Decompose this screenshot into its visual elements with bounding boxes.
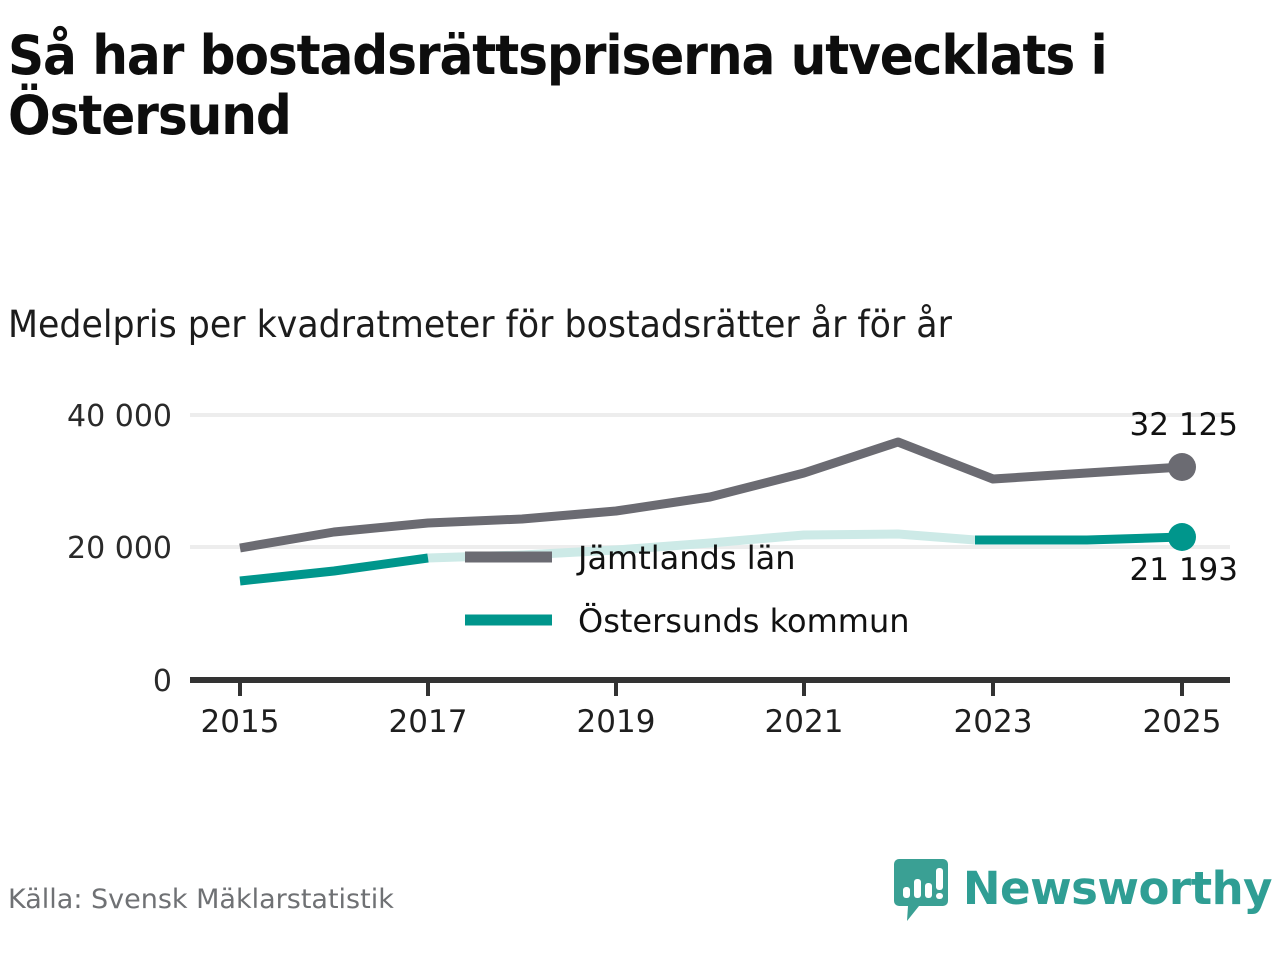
y-tick-label: 20 000 <box>67 531 172 566</box>
series-line-ostersunds-kommun-left <box>240 558 428 581</box>
chart-container: 40 000 20 000 0 32 125 21 193 Jämtlands … <box>0 380 1280 760</box>
x-tick-label: 2015 <box>201 704 280 740</box>
end-value-ostersunds-kommun: 21 193 <box>1130 552 1238 588</box>
chart-legend: Jämtlands län Östersunds kommun <box>465 539 910 640</box>
source-note: Källa: Svensk Mäklarstatistik <box>8 884 394 915</box>
chart-subtitle: Medelpris per kvadratmeter för bostadsrä… <box>8 303 952 347</box>
x-tick-label: 2021 <box>765 704 844 740</box>
y-tick-label: 0 <box>153 664 172 699</box>
series-line-jamtlands-lan <box>240 442 1182 548</box>
legend-label-ostersunds-kommun: Östersunds kommun <box>578 602 910 640</box>
page-title: Så har bostadsrättspriserna utvecklats i… <box>8 26 1184 146</box>
x-tick-label: 2019 <box>577 704 656 740</box>
legend-item-jamtlands-lan[interactable]: Jämtlands län <box>465 539 795 577</box>
brand-name: Newsworthy <box>963 866 1272 911</box>
series-line-ostersunds-kommun-right <box>975 537 1182 540</box>
x-axis-tick-labels: 2015 2017 2019 2021 2023 2025 <box>201 704 1222 740</box>
y-tick-label: 40 000 <box>67 399 172 434</box>
end-marker-jamtlands-lan <box>1168 453 1196 481</box>
legend-item-ostersunds-kommun[interactable]: Östersunds kommun <box>465 602 910 640</box>
end-value-jamtlands-lan: 32 125 <box>1130 407 1238 443</box>
x-tick-label: 2023 <box>954 704 1033 740</box>
line-chart: 40 000 20 000 0 32 125 21 193 Jämtlands … <box>0 380 1280 760</box>
end-marker-ostersunds-kommun <box>1168 523 1196 551</box>
x-tick-label: 2025 <box>1143 704 1222 740</box>
legend-label-jamtlands-lan: Jämtlands län <box>576 539 795 577</box>
y-axis-ticks: 40 000 20 000 0 <box>67 399 172 699</box>
x-tick-label: 2017 <box>389 704 468 740</box>
brand-logo: Newsworthy <box>893 852 1272 928</box>
newsworthy-bubble-bars-icon <box>893 857 949 923</box>
